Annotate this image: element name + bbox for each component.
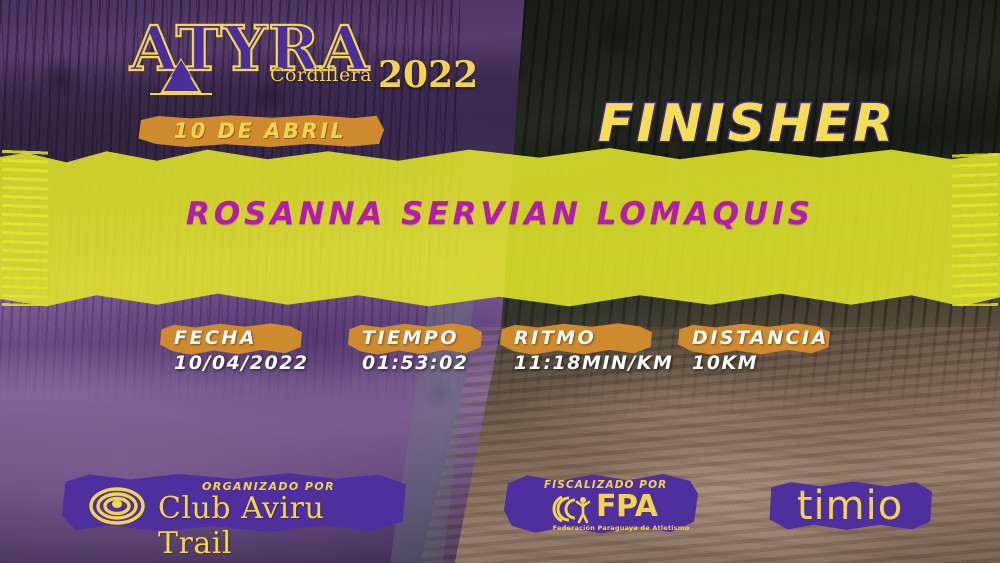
fpa-runner-icon <box>548 494 594 524</box>
event-logo-wordmark: ATYRA Cordillera 2022 <box>126 12 388 104</box>
mountain-icon <box>148 58 214 96</box>
stat-value: 10KM <box>678 349 829 374</box>
event-date-text: 10 DE ABRIL <box>174 119 347 143</box>
timing-sponsor-name: timio <box>768 480 932 532</box>
runner-name: ROSANNA SERVIAN LOMAQUIS <box>0 196 1000 232</box>
event-date-ribbon: 10 DE ABRIL <box>136 114 384 148</box>
finisher-certificate: ATYRA Cordillera 2022 10 DE ABRIL FINISH… <box>0 0 1000 563</box>
sanctioner-acronym: FPA <box>596 492 657 522</box>
sanctioner-full-name: Federación Paraguaya de Atletismo <box>548 524 694 532</box>
stat-label: DISTANCIA <box>678 322 829 349</box>
event-year: 2022 <box>378 54 478 96</box>
stat-tiempo: TIEMPO 01:53:02 <box>348 322 469 374</box>
status-badge: FINISHER <box>598 94 896 154</box>
stat-value: 01:53:02 <box>348 349 469 374</box>
stat-label: TIEMPO <box>348 322 469 349</box>
stat-fecha: FECHA 10/04/2022 <box>160 322 309 374</box>
stat-distancia: DISTANCIA 10KM <box>678 322 829 374</box>
stat-ritmo: RITMO 11:18MIN/KM <box>500 322 673 374</box>
stat-value: 10/04/2022 <box>160 349 309 374</box>
sanctioner-logo: FISCALIZADO POR FPA Federación Paraguaya… <box>504 472 698 536</box>
spiral-eye-icon <box>88 486 146 526</box>
organizer-logo: ORGANIZADO POR Club Aviru Trail <box>62 472 406 534</box>
stat-value: 11:18MIN/KM <box>500 349 673 374</box>
event-logo: ATYRA Cordillera 2022 10 DE ABRIL <box>126 12 388 104</box>
stat-label: FECHA <box>160 322 309 349</box>
stat-label: RITMO <box>500 322 673 349</box>
organizer-name: Club Aviru Trail <box>158 491 406 561</box>
stats-row: FECHA 10/04/2022 TIEMPO 01:53:02 RITMO 1… <box>160 322 832 392</box>
event-region: Cordillera <box>270 64 372 86</box>
